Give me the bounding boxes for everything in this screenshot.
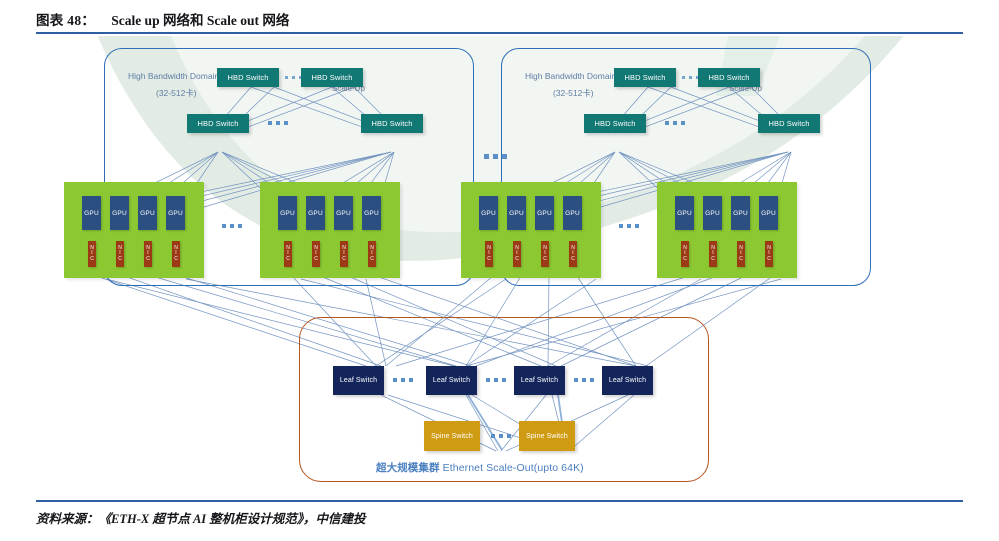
hbd-switch-top[interactable]: HBD Switch [301, 68, 363, 87]
hbd-switch-top[interactable]: HBD Switch [698, 68, 760, 87]
hbd-switch-label: HBD Switch [594, 119, 635, 128]
domain-label-left-line2: (32-512卡) [156, 87, 197, 99]
nic-box[interactable]: NIC [116, 241, 124, 267]
leaf-switch[interactable]: Leaf Switch [333, 366, 384, 395]
network-diagram: High Bandwidth Domain (32-512卡) Scale-Up… [36, 36, 963, 496]
spine-switch[interactable]: Spine Switch [424, 421, 480, 451]
nic-box[interactable]: NIC [765, 241, 773, 267]
nic-box[interactable]: NIC [88, 241, 96, 267]
source-note: 资料来源：《ETH-X 超节点 AI 整机柜设计规范》，中信建投 [36, 508, 936, 528]
nic-box[interactable]: NIC [340, 241, 348, 267]
gpu-box[interactable]: GPU [535, 196, 554, 230]
hbd-switch-top[interactable]: HBD Switch [217, 68, 279, 87]
gpu-label: GPU [84, 210, 99, 217]
gpu-box[interactable]: GPU [334, 196, 353, 230]
nic-box[interactable]: NIC [144, 241, 152, 267]
hbd-switch-top[interactable]: HBD Switch [614, 68, 676, 87]
gpu-box[interactable]: GPU [675, 196, 694, 230]
gpu-box[interactable]: GPU [703, 196, 722, 230]
nic-box[interactable]: NIC [284, 241, 292, 267]
hbd-switch-label: HBD Switch [371, 119, 412, 128]
hbd-switch-label: HBD Switch [708, 73, 749, 82]
gpu-label: GPU [733, 210, 748, 217]
top-switch-separator-right [682, 76, 699, 79]
figure-number: 图表 48： [36, 9, 95, 29]
gpu-label: GPU [761, 210, 776, 217]
scale-out-group [299, 317, 709, 482]
gpu-label: GPU [705, 210, 720, 217]
gpu-label: GPU [537, 210, 552, 217]
nic-box[interactable]: NIC [312, 241, 320, 267]
title-divider [36, 32, 963, 34]
gpu-box[interactable]: GPU [759, 196, 778, 230]
page-title: 图表 48： Scale up 网络和 Scale out 网络 [36, 8, 966, 30]
gpu-label: GPU [481, 210, 496, 217]
gpu-label: GPU [168, 210, 183, 217]
nic-box[interactable]: NIC [737, 241, 745, 267]
leaf-switch-label: Leaf Switch [609, 377, 646, 384]
domain-label-right-line1: High Bandwidth Domain [525, 71, 616, 81]
scale-out-caption-en: Ethernet Scale-Out(upto 64K) [443, 462, 584, 474]
gpu-label: GPU [677, 210, 692, 217]
panel-separator-left [222, 224, 242, 228]
nic-box[interactable]: NIC [709, 241, 717, 267]
leaf-separator [574, 378, 594, 382]
gpu-label: GPU [112, 210, 127, 217]
gpu-box[interactable]: GPU [278, 196, 297, 230]
gpu-label: GPU [364, 210, 379, 217]
scale-out-caption-cn: 超大规模集群 [376, 462, 440, 474]
hbd-switch-label: HBD Switch [227, 73, 268, 82]
nic-box[interactable]: NIC [541, 241, 549, 267]
gpu-box[interactable]: GPU [362, 196, 381, 230]
gpu-label: GPU [308, 210, 323, 217]
spine-switch[interactable]: Spine Switch [519, 421, 575, 451]
leaf-separator [486, 378, 506, 382]
gpu-box[interactable]: GPU [507, 196, 526, 230]
spine-switch-label: Spine Switch [431, 433, 473, 440]
gpu-box[interactable]: GPU [82, 196, 101, 230]
gpu-label: GPU [280, 210, 295, 217]
hbd-switch-mid[interactable]: HBD Switch [584, 114, 646, 133]
hbd-switch-label: HBD Switch [768, 119, 809, 128]
hbd-switch-mid[interactable]: HBD Switch [361, 114, 423, 133]
panel-separator-right [619, 224, 639, 228]
figure-title-text: Scale up 网络和 Scale out 网络 [111, 9, 289, 29]
gpu-box[interactable]: GPU [731, 196, 750, 230]
top-switch-separator-left [285, 76, 302, 79]
gpu-box[interactable]: GPU [563, 196, 582, 230]
footer-divider [36, 500, 963, 502]
domain-label-left-line1: High Bandwidth Domain [128, 71, 219, 81]
gpu-box[interactable]: GPU [479, 196, 498, 230]
nic-box[interactable]: NIC [368, 241, 376, 267]
gpu-label: GPU [140, 210, 155, 217]
nic-box[interactable]: NIC [172, 241, 180, 267]
hbd-switch-mid[interactable]: HBD Switch [758, 114, 820, 133]
gpu-label: GPU [336, 210, 351, 217]
gpu-label: GPU [565, 210, 580, 217]
leaf-separator [393, 378, 413, 382]
leaf-switch-label: Leaf Switch [433, 377, 470, 384]
gpu-box[interactable]: GPU [110, 196, 129, 230]
gpu-box[interactable]: GPU [138, 196, 157, 230]
mid-switch-separator-right [665, 121, 685, 125]
nic-box[interactable]: NIC [681, 241, 689, 267]
leaf-switch[interactable]: Leaf Switch [514, 366, 565, 395]
mid-switch-separator-left [268, 121, 288, 125]
nic-box[interactable]: NIC [485, 241, 493, 267]
leaf-switch-label: Leaf Switch [521, 377, 558, 384]
hbd-switch-label: HBD Switch [197, 119, 238, 128]
domain-label-right-line2: (32-512卡) [553, 87, 594, 99]
leaf-switch-label: Leaf Switch [340, 377, 377, 384]
spine-separator [491, 434, 511, 438]
nic-box[interactable]: NIC [513, 241, 521, 267]
hbd-switch-mid[interactable]: HBD Switch [187, 114, 249, 133]
leaf-switch[interactable]: Leaf Switch [602, 366, 653, 395]
gpu-label: GPU [509, 210, 524, 217]
figure-page: 图表 48： Scale up 网络和 Scale out 网络 [0, 0, 999, 541]
gpu-box[interactable]: GPU [166, 196, 185, 230]
hbd-switch-label: HBD Switch [624, 73, 665, 82]
spine-switch-label: Spine Switch [526, 433, 568, 440]
nic-box[interactable]: NIC [569, 241, 577, 267]
gpu-box[interactable]: GPU [306, 196, 325, 230]
scale-out-caption: 超大规模集群 Ethernet Scale-Out(upto 64K) [376, 460, 584, 475]
hbd-switch-label: HBD Switch [311, 73, 352, 82]
leaf-switch[interactable]: Leaf Switch [426, 366, 477, 395]
